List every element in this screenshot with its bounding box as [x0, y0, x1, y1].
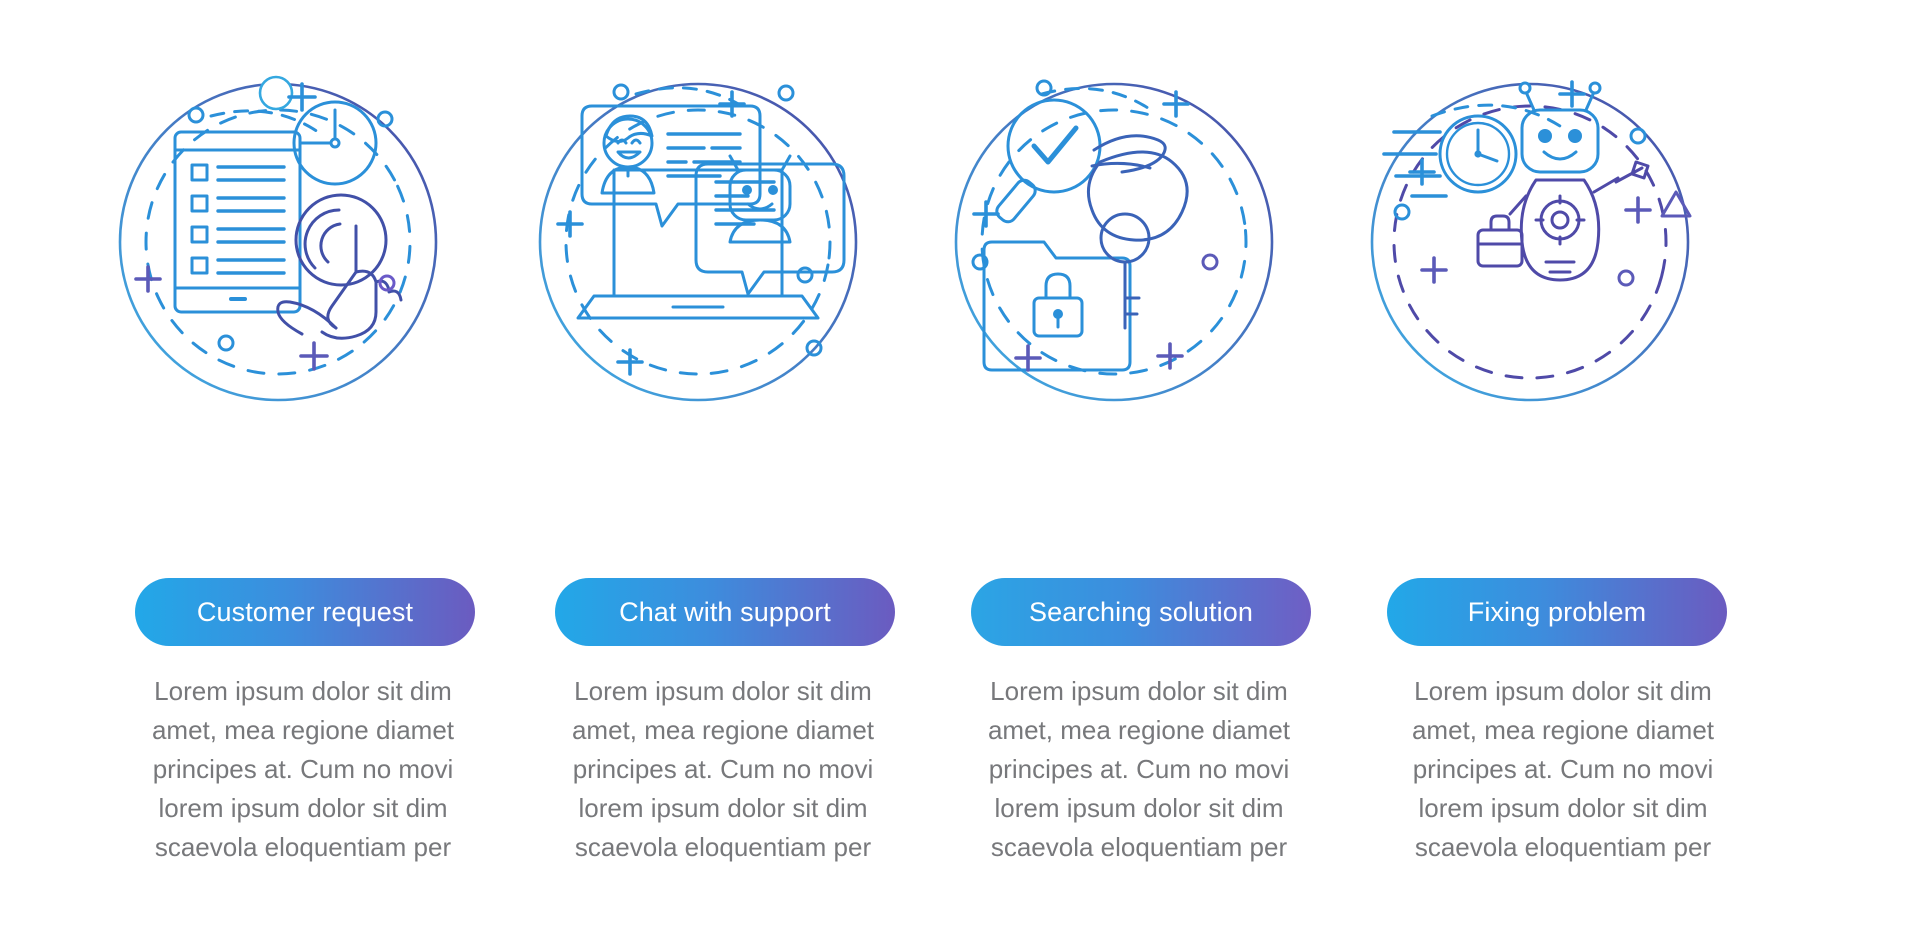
small-circle-d	[219, 336, 233, 350]
step-3-description: Lorem ipsum dolor sit dim amet, mea regi…	[944, 672, 1334, 867]
folder-body	[984, 242, 1130, 370]
clock-center-dot	[1474, 150, 1481, 157]
infographic-board: Customer request Lorem ipsum dolor sit d…	[0, 0, 1920, 948]
small-circle-b	[1631, 129, 1645, 143]
plus-mark-b	[974, 202, 998, 226]
robot-mouth	[1544, 152, 1576, 159]
robot-grill	[1546, 262, 1574, 272]
robot-eye-right	[1568, 129, 1582, 143]
tap-finger	[328, 226, 356, 328]
person-bubble	[582, 106, 760, 226]
step-3-pill[interactable]: Searching solution	[971, 578, 1311, 646]
step-2-illustration	[508, 30, 928, 460]
tap-ripple-inner	[321, 224, 340, 262]
tablet-home-button	[229, 297, 247, 301]
step-3-label: Searching solution	[1029, 597, 1253, 628]
clock-center-dot	[331, 139, 339, 147]
checkmark	[1034, 128, 1076, 162]
plus-mark-b	[558, 212, 582, 236]
dashed-accent-arc	[1042, 88, 1148, 108]
step-1-description: Lorem ipsum dolor sit dim amet, mea regi…	[108, 672, 498, 867]
plus-mark-c	[1016, 346, 1040, 370]
robot-antenna-left-tip	[1520, 83, 1530, 93]
robot-gear-inner	[1552, 212, 1568, 228]
step-1-pill[interactable]: Customer request	[135, 578, 475, 646]
small-circle-b	[378, 112, 392, 126]
toolbox-body	[1478, 230, 1522, 266]
tap-ripple-outer	[296, 195, 386, 285]
step-3-illustration	[924, 30, 1344, 460]
small-circle-b	[779, 86, 793, 100]
checkbox-3	[192, 227, 207, 242]
step-4[interactable]: Fixing problem Lorem ipsum dolor sit dim…	[1340, 0, 1760, 880]
wrench	[1616, 162, 1648, 182]
magnifier-handle	[994, 177, 1039, 225]
step-4-description: Lorem ipsum dolor sit dim amet, mea regi…	[1368, 672, 1758, 867]
checkbox-1	[192, 165, 207, 180]
step-2[interactable]: Chat with support Lorem ipsum dolor sit …	[508, 0, 928, 880]
step-2-pill[interactable]: Chat with support	[555, 578, 895, 646]
small-circle-a	[614, 85, 628, 99]
small-circle-c	[1619, 271, 1633, 285]
robot-gear	[1541, 201, 1579, 239]
step-2-label: Chat with support	[619, 597, 831, 628]
robot-eye-left	[742, 185, 752, 195]
tablet-body	[175, 132, 300, 312]
plus-mark-b	[136, 267, 160, 291]
checkbox-2	[192, 196, 207, 211]
dashed-ring	[1363, 75, 1696, 408]
plus-mark-d	[1626, 198, 1650, 222]
steps-container: Customer request Lorem ipsum dolor sit d…	[0, 0, 1920, 948]
plus-mark-c	[618, 350, 642, 374]
toolbox-handle	[1491, 216, 1509, 230]
robot-eye-right	[768, 185, 778, 195]
step-1-label: Customer request	[197, 597, 413, 628]
plus-mark-a	[1560, 82, 1584, 106]
step-1-illustration	[88, 30, 508, 460]
person-eye-right	[632, 140, 640, 143]
small-circle-a	[1395, 205, 1409, 219]
plus-mark-b	[1410, 160, 1434, 184]
step-4-illustration	[1340, 30, 1760, 460]
robot-gear-teeth	[1536, 196, 1584, 244]
step-1[interactable]: Customer request Lorem ipsum dolor sit d…	[88, 0, 508, 880]
robot-antenna-right-tip	[1590, 83, 1600, 93]
padlock-shackle	[1046, 274, 1070, 298]
robot-arm-right	[1594, 178, 1618, 192]
small-circle-a	[189, 108, 203, 122]
step-4-label: Fixing problem	[1468, 597, 1646, 628]
dashed-accent-arc	[1432, 105, 1560, 126]
checkbox-4	[192, 258, 207, 273]
laptop-screen	[614, 170, 782, 296]
step-2-description: Lorem ipsum dolor sit dim amet, mea regi…	[528, 672, 918, 867]
node-circle	[260, 77, 292, 109]
step-3[interactable]: Searching solution Lorem ipsum dolor sit…	[924, 0, 1344, 880]
step-4-pill[interactable]: Fixing problem	[1387, 578, 1727, 646]
plus-mark-c	[1422, 258, 1446, 282]
small-circle-c	[798, 268, 812, 282]
robot-eye-left	[1538, 129, 1552, 143]
plus-mark-a	[1164, 92, 1188, 116]
small-circle-c	[1203, 255, 1217, 269]
person-smile	[618, 152, 640, 158]
key-teeth	[1125, 298, 1139, 314]
